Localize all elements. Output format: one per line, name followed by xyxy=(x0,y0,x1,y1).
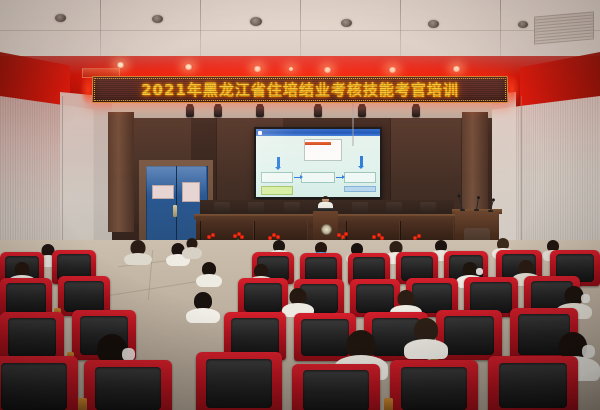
slide-arrow-down xyxy=(360,156,363,166)
ceiling-seam xyxy=(100,0,101,62)
auditorium-seat[interactable] xyxy=(0,312,64,362)
slide-arrow-right xyxy=(294,177,300,178)
projection-screen xyxy=(256,129,380,197)
auditorium-seat[interactable] xyxy=(84,360,172,410)
slide-footer-box xyxy=(344,186,376,192)
ceiling-seam xyxy=(300,0,301,62)
slide-flow-box xyxy=(261,172,293,183)
attendee xyxy=(124,240,152,264)
stage-spotlight xyxy=(214,106,222,117)
ceiling-seam xyxy=(400,0,401,62)
auditorium-seat[interactable] xyxy=(238,278,288,316)
slide-body xyxy=(256,136,380,197)
slide-text-block xyxy=(262,140,296,156)
ceiling-spotlight xyxy=(388,67,397,73)
ceiling-spotlight xyxy=(323,67,332,73)
door-handle[interactable] xyxy=(173,205,177,217)
ceiling-spotlight xyxy=(288,67,294,71)
door-sign xyxy=(152,185,174,199)
slide-orange-bar xyxy=(305,142,331,145)
ceiling-vent-icon xyxy=(55,14,66,22)
slide-app-icon xyxy=(258,131,262,135)
ceiling-seam xyxy=(200,0,201,62)
conference-hall-photo: 2021年黑龙江省住培结业考核技能考官培训 xyxy=(0,0,600,410)
stage-spotlight xyxy=(412,106,420,117)
ceiling-vent-icon xyxy=(428,20,439,28)
ceiling-vent-icon xyxy=(152,15,163,23)
attendee xyxy=(182,238,202,258)
slide-arrow-right xyxy=(336,177,342,178)
ceiling-spotlight xyxy=(116,62,125,68)
led-banner: 2021年黑龙江省住培结业考核技能考官培训 xyxy=(92,76,508,103)
auditorium-seat[interactable] xyxy=(390,360,478,410)
door-sign xyxy=(182,182,200,202)
microphone-base xyxy=(488,210,493,212)
attendee xyxy=(186,292,220,322)
attendee xyxy=(282,288,314,316)
auditorium-seat[interactable] xyxy=(488,356,578,410)
ceiling-vent-icon xyxy=(518,21,528,28)
attendee xyxy=(404,318,448,358)
ceiling-seam xyxy=(500,0,501,62)
slide-header-bar xyxy=(256,129,380,136)
stage-spotlight xyxy=(186,106,194,117)
ceiling-spotlight xyxy=(452,66,461,72)
auditorium-seat[interactable] xyxy=(0,356,78,410)
auditorium-seat[interactable] xyxy=(292,364,380,410)
microphone-base xyxy=(474,209,479,211)
led-banner-text: 2021年黑龙江省住培结业考核技能考官培训 xyxy=(93,77,507,102)
ceiling-air-grille xyxy=(534,11,594,44)
slide-flow-box xyxy=(344,172,376,183)
attendee xyxy=(196,262,222,286)
slide-flow-box xyxy=(301,172,335,183)
stage-spotlight xyxy=(358,106,366,117)
ceiling-spotlight xyxy=(184,64,193,70)
back-wall-column xyxy=(108,112,134,232)
auditorium-seat[interactable] xyxy=(196,352,282,410)
led-banner-panel: 2021年黑龙江省住培结业考核技能考官培训 xyxy=(92,76,508,103)
microphone-base xyxy=(460,209,465,211)
ceiling-vent-icon xyxy=(250,17,262,26)
stage-spotlight xyxy=(314,106,322,117)
ceiling-spotlight xyxy=(253,66,262,72)
ceiling-vent-icon xyxy=(341,19,352,27)
stage-light-bar xyxy=(186,106,424,118)
slide-arrow-down xyxy=(277,157,280,167)
podium-emblem xyxy=(321,224,332,235)
stage-spotlight xyxy=(256,106,264,117)
slide-highlight-box xyxy=(261,186,293,195)
